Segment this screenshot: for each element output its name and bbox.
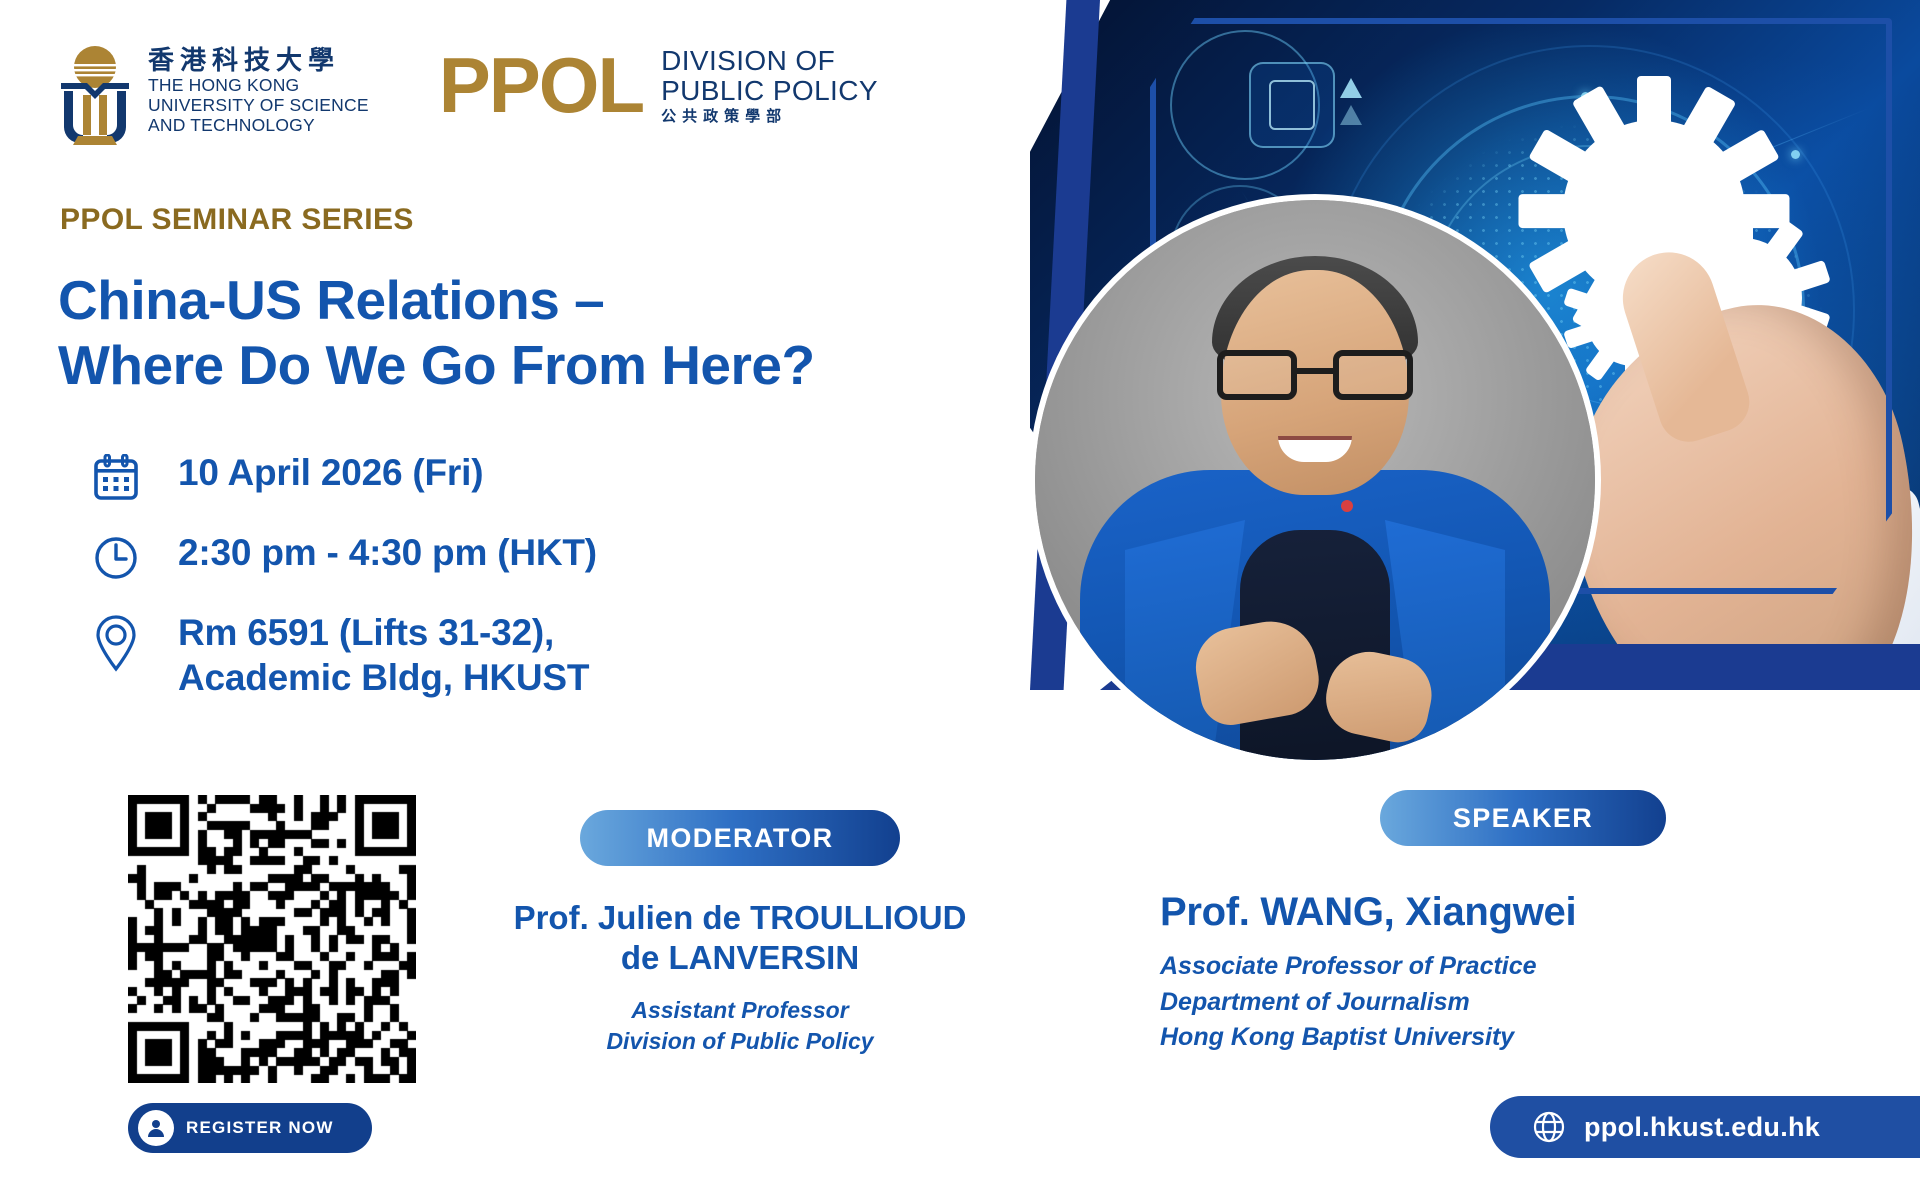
speaker-photo [1035, 200, 1595, 760]
ppol-wordmark: PPOL [439, 50, 643, 122]
venue-line-2: Academic Bldg, HKUST [178, 655, 589, 700]
event-date: 10 April 2026 (Fri) [178, 450, 483, 495]
page-title: China-US Relations – Where Do We Go From… [58, 268, 878, 398]
moderator-name: Prof. Julien de TROULLIOUD de LANVERSIN [480, 898, 1000, 977]
detail-row-time: 2:30 pm - 4:30 pm (HKT) [90, 530, 880, 580]
hkust-logo: 香港科技大學 THE HONG KONG UNIVERSITY OF SCIEN… [58, 42, 369, 146]
moderator-affiliation-line-1: Assistant Professor [480, 995, 1000, 1026]
speaker-affiliation-line-2: Department of Journalism [1160, 985, 1800, 1021]
event-time: 2:30 pm - 4:30 pm (HKT) [178, 530, 597, 575]
ppol-division-line2: PUBLIC POLICY [661, 76, 878, 106]
speaker-block: SPEAKER Prof. WANG, Xiangwei Associate P… [1160, 790, 1800, 1056]
hkust-english-line2: UNIVERSITY OF SCIENCE [148, 95, 369, 115]
logo-row: 香港科技大學 THE HONG KONG UNIVERSITY OF SCIEN… [58, 42, 878, 146]
speaker-affiliation-line-3: Hong Kong Baptist University [1160, 1020, 1800, 1056]
hkust-english-line1: THE HONG KONG [148, 75, 369, 95]
moderator-affiliation-line-2: Division of Public Policy [480, 1026, 1000, 1057]
network-node [1791, 150, 1800, 159]
event-details: 10 April 2026 (Fri) 2:30 pm - 4:30 pm (H… [90, 450, 880, 730]
speaker-name: Prof. WANG, Xiangwei [1160, 890, 1800, 935]
qr-code[interactable] [128, 795, 416, 1083]
website-url-text: ppol.hkust.edu.hk [1584, 1112, 1820, 1143]
detail-row-date: 10 April 2026 (Fri) [90, 450, 880, 500]
website-url-bar[interactable]: ppol.hkust.edu.hk [1490, 1096, 1920, 1158]
event-venue: Rm 6591 (Lifts 31-32), Academic Bldg, HK… [178, 610, 589, 700]
user-circle-icon [138, 1110, 174, 1146]
upload-arrow-icon [1340, 105, 1362, 125]
location-pin-icon [90, 610, 142, 676]
moderator-affiliation: Assistant Professor Division of Public P… [480, 995, 1000, 1057]
ppol-division-line1: DIVISION OF [661, 46, 878, 76]
speaker-affiliation: Associate Professor of Practice Departme… [1160, 949, 1800, 1056]
lapel-pin [1341, 500, 1353, 512]
moderator-badge: MODERATOR [580, 810, 900, 866]
upload-arrow-icon [1340, 78, 1362, 98]
speaker-glasses [1217, 350, 1413, 404]
ppol-logo: PPOL DIVISION OF PUBLIC POLICY 公共政策學部 [439, 42, 878, 126]
moderator-name-line-1: Prof. Julien de TROULLIOUD [480, 898, 1000, 938]
globe-icon [1532, 1110, 1566, 1144]
registration-block: REGISTER NOW [128, 795, 428, 1153]
register-now-button[interactable]: REGISTER NOW [128, 1103, 372, 1153]
title-line-1: China-US Relations – [58, 268, 878, 333]
clock-icon [90, 530, 142, 580]
speaker-badge: SPEAKER [1380, 790, 1666, 846]
venue-line-1: Rm 6591 (Lifts 31-32), [178, 610, 589, 655]
cloud-hud-icon [1249, 62, 1335, 148]
hkust-emblem-icon [58, 42, 132, 146]
hkust-english-line3: AND TECHNOLOGY [148, 115, 369, 135]
title-line-2: Where Do We Go From Here? [58, 333, 878, 398]
detail-row-venue: Rm 6591 (Lifts 31-32), Academic Bldg, HK… [90, 610, 880, 700]
seminar-series-label: PPOL SEMINAR SERIES [60, 203, 414, 237]
register-now-label: REGISTER NOW [186, 1118, 334, 1138]
ppol-division-chinese: 公共政策學部 [661, 109, 878, 125]
speaker-affiliation-line-1: Associate Professor of Practice [1160, 949, 1800, 985]
moderator-name-line-2: de LANVERSIN [480, 938, 1000, 978]
calendar-icon [90, 450, 142, 500]
moderator-block: MODERATOR Prof. Julien de TROULLIOUD de … [480, 810, 1000, 1057]
hkust-chinese-name: 香港科技大學 [148, 46, 369, 75]
